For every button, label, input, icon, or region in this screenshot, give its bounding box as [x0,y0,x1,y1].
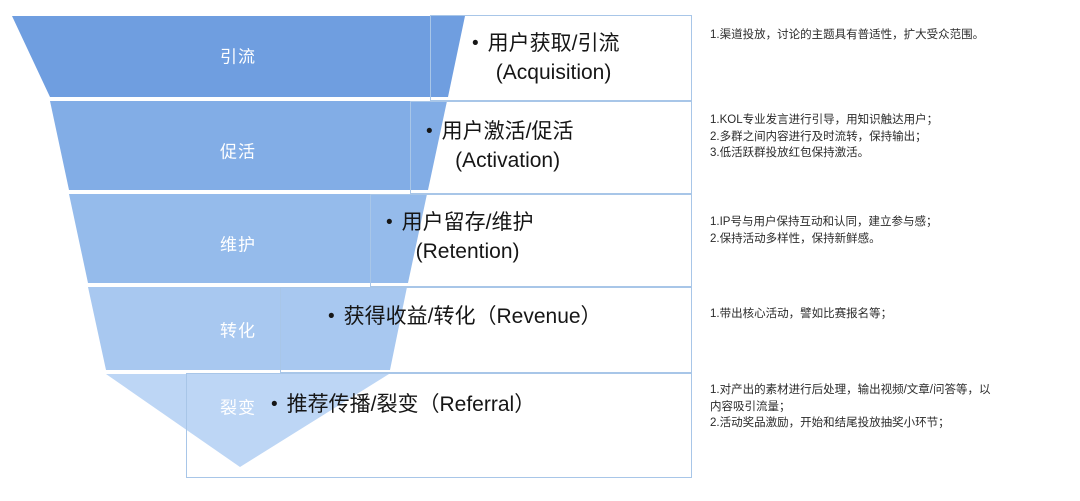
bullet-content-revenue: • 获得收益/转化（Revenue） [328,302,678,331]
bullet-label-acquisition: 用户获取/引流(Acquisition) [488,29,620,87]
funnel-diagram: 引流 促活 维护 转化 裂变 • 用户获取/引流(Acquisition) • … [0,0,1080,496]
bullet-label-referral: 推荐传播/裂变（Referral） [287,390,536,419]
funnel-label-retention: 维护 [220,237,256,254]
bullet-dot-icon: • [426,117,433,146]
funnel-label-revenue: 转化 [220,323,256,340]
bullet-dot-icon: • [271,390,278,419]
bullet-dot-icon: • [386,208,393,237]
funnel-label-acquisition: 引流 [220,49,256,66]
bullet-dot-icon: • [328,302,335,331]
bullet-box-acquisition[interactable]: • 用户获取/引流(Acquisition) [430,15,692,101]
note-referral: 1.对产出的素材进行后处理，输出视频/文章/问答等，以 内容吸引流量； 2.活动… [710,382,1070,432]
bullet-box-retention[interactable]: • 用户留存/维护(Retention) [370,194,692,287]
bullet-content-acquisition: • 用户获取/引流(Acquisition) [472,29,677,87]
note-retention: 1.IP号与用户保持互动和认同，建立参与感； 2.保持活动多样性，保持新鲜感。 [710,214,1070,247]
bullet-box-referral[interactable]: • 推荐传播/裂变（Referral） [186,373,692,478]
bullet-label-revenue: 获得收益/转化（Revenue） [344,302,602,331]
bullet-box-activation[interactable]: • 用户激活/促活(Activation) [410,101,692,194]
note-acquisition: 1.渠道投放，讨论的主题具有普适性，扩大受众范围。 [710,27,1070,44]
funnel-label-activation: 促活 [220,144,256,161]
bullet-content-activation: • 用户激活/促活(Activation) [426,117,676,175]
bullet-content-retention: • 用户留存/维护(Retention) [386,208,626,266]
note-activation: 1.KOL专业发言进行引导，用知识触达用户； 2.多群之间内容进行及时流转，保持… [710,112,1070,162]
bullet-label-activation: 用户激活/促活(Activation) [442,117,574,175]
note-revenue: 1.带出核心活动，譬如比赛报名等； [710,306,1070,323]
bullet-label-retention: 用户留存/维护(Retention) [402,208,534,266]
bullet-box-revenue[interactable]: • 获得收益/转化（Revenue） [280,287,692,373]
bullet-dot-icon: • [472,29,479,58]
bullet-content-referral: • 推荐传播/裂变（Referral） [271,390,671,419]
